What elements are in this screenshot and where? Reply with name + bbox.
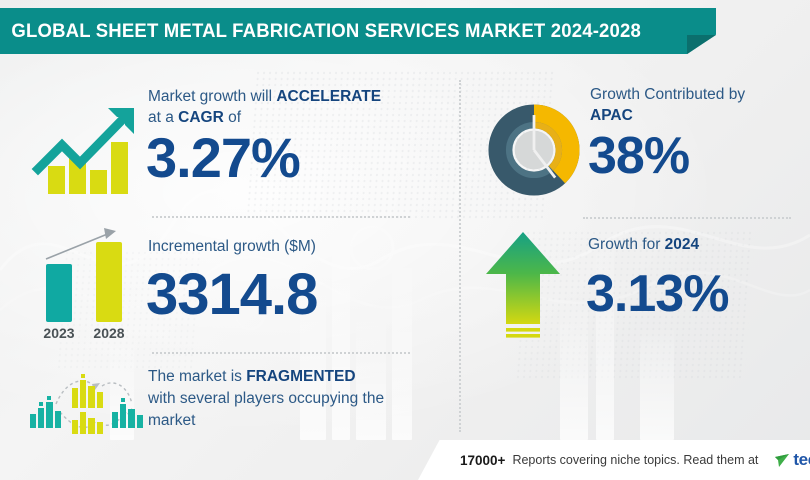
cagr-label-line2-plain: at a [148,109,178,126]
panel-incremental-growth: 2023 2028 Incremental growth ($M) 3314.8 [18,224,448,350]
city-cluster-right [112,398,143,428]
up-arrow-icon [480,228,566,344]
bar-chart-growth-icon: 2023 2028 [24,226,148,344]
city-network-icon [22,364,150,442]
divider-horizontal-left-lower [152,352,410,354]
donut-chart-icon [488,104,580,196]
growth-2024-value: 3.13% [586,268,728,320]
footer-text: Reports covering niche topics. Read them… [512,453,758,467]
technavio-logo[interactable]: technav [774,450,810,470]
incremental-growth-label: Incremental growth ($M) [148,236,448,257]
bar-label-2023: 2023 [43,325,74,341]
page-title: GLOBAL SHEET METAL FABRICATION SERVICES … [0,20,641,43]
fragmented-label-line1-bold: FRAGMENTED [246,368,355,385]
fragmented-label-line2: with several players occupying the [148,390,384,407]
navigation-arrow-icon [774,452,791,469]
bar-label-2028: 2028 [93,325,124,341]
cagr-label-line1-plain: Market growth will [148,88,276,105]
cagr-label-line2-bold: CAGR [178,109,224,126]
growth-2024-label-bold: 2024 [665,236,699,253]
apac-label: Growth Contributed by APAC [590,84,800,126]
cagr-label-line1-bold: ACCELERATE [276,88,381,105]
cagr-label: Market growth will ACCELERATE at a CAGR … [148,86,448,128]
fragmented-label-line3: market [148,412,195,429]
growth-2024-label: Growth for 2024 [588,234,798,255]
city-cluster-bottom [72,412,103,434]
cagr-value: 3.27% [146,130,300,186]
footer-report-count: 17000+ [460,453,505,468]
growth-arrow-chart-icon [22,84,146,202]
divider-horizontal-right [583,217,791,219]
panel-fragmented-market: The market is FRAGMENTED with several pl… [18,362,448,440]
fragmented-label-line1-plain: The market is [148,368,246,385]
growth-2024-label-plain: Growth for [588,236,665,253]
cagr-label-line2-tail: of [224,109,241,126]
apac-label-bold: APAC [590,107,633,124]
infographic-root: GLOBAL SHEET METAL FABRICATION SERVICES … [0,0,810,480]
panel-cagr: Market growth will ACCELERATE at a CAGR … [18,78,448,208]
footer-bar: 17000+ Reports covering niche topics. Re… [418,440,810,480]
apac-label-plain: Growth Contributed by [590,86,745,103]
apac-value: 38% [588,130,689,182]
footer-content: 17000+ Reports covering niche topics. Re… [418,450,810,470]
panel-growth-2024: Growth for 2024 3.13% [470,224,800,350]
header-fold-corner [687,35,716,54]
logo-text-tech: tech [793,450,810,470]
incremental-growth-value: 3314.8 [146,266,317,324]
fragmented-market-label: The market is FRAGMENTED with several pl… [148,366,458,432]
divider-horizontal-left-upper [152,216,410,218]
panel-apac: Growth Contributed by APAC 38% [470,78,800,208]
divider-vertical-center [459,80,461,432]
header-banner: GLOBAL SHEET METAL FABRICATION SERVICES … [0,8,716,54]
city-cluster-left [30,396,61,428]
city-cluster-top [72,374,103,408]
